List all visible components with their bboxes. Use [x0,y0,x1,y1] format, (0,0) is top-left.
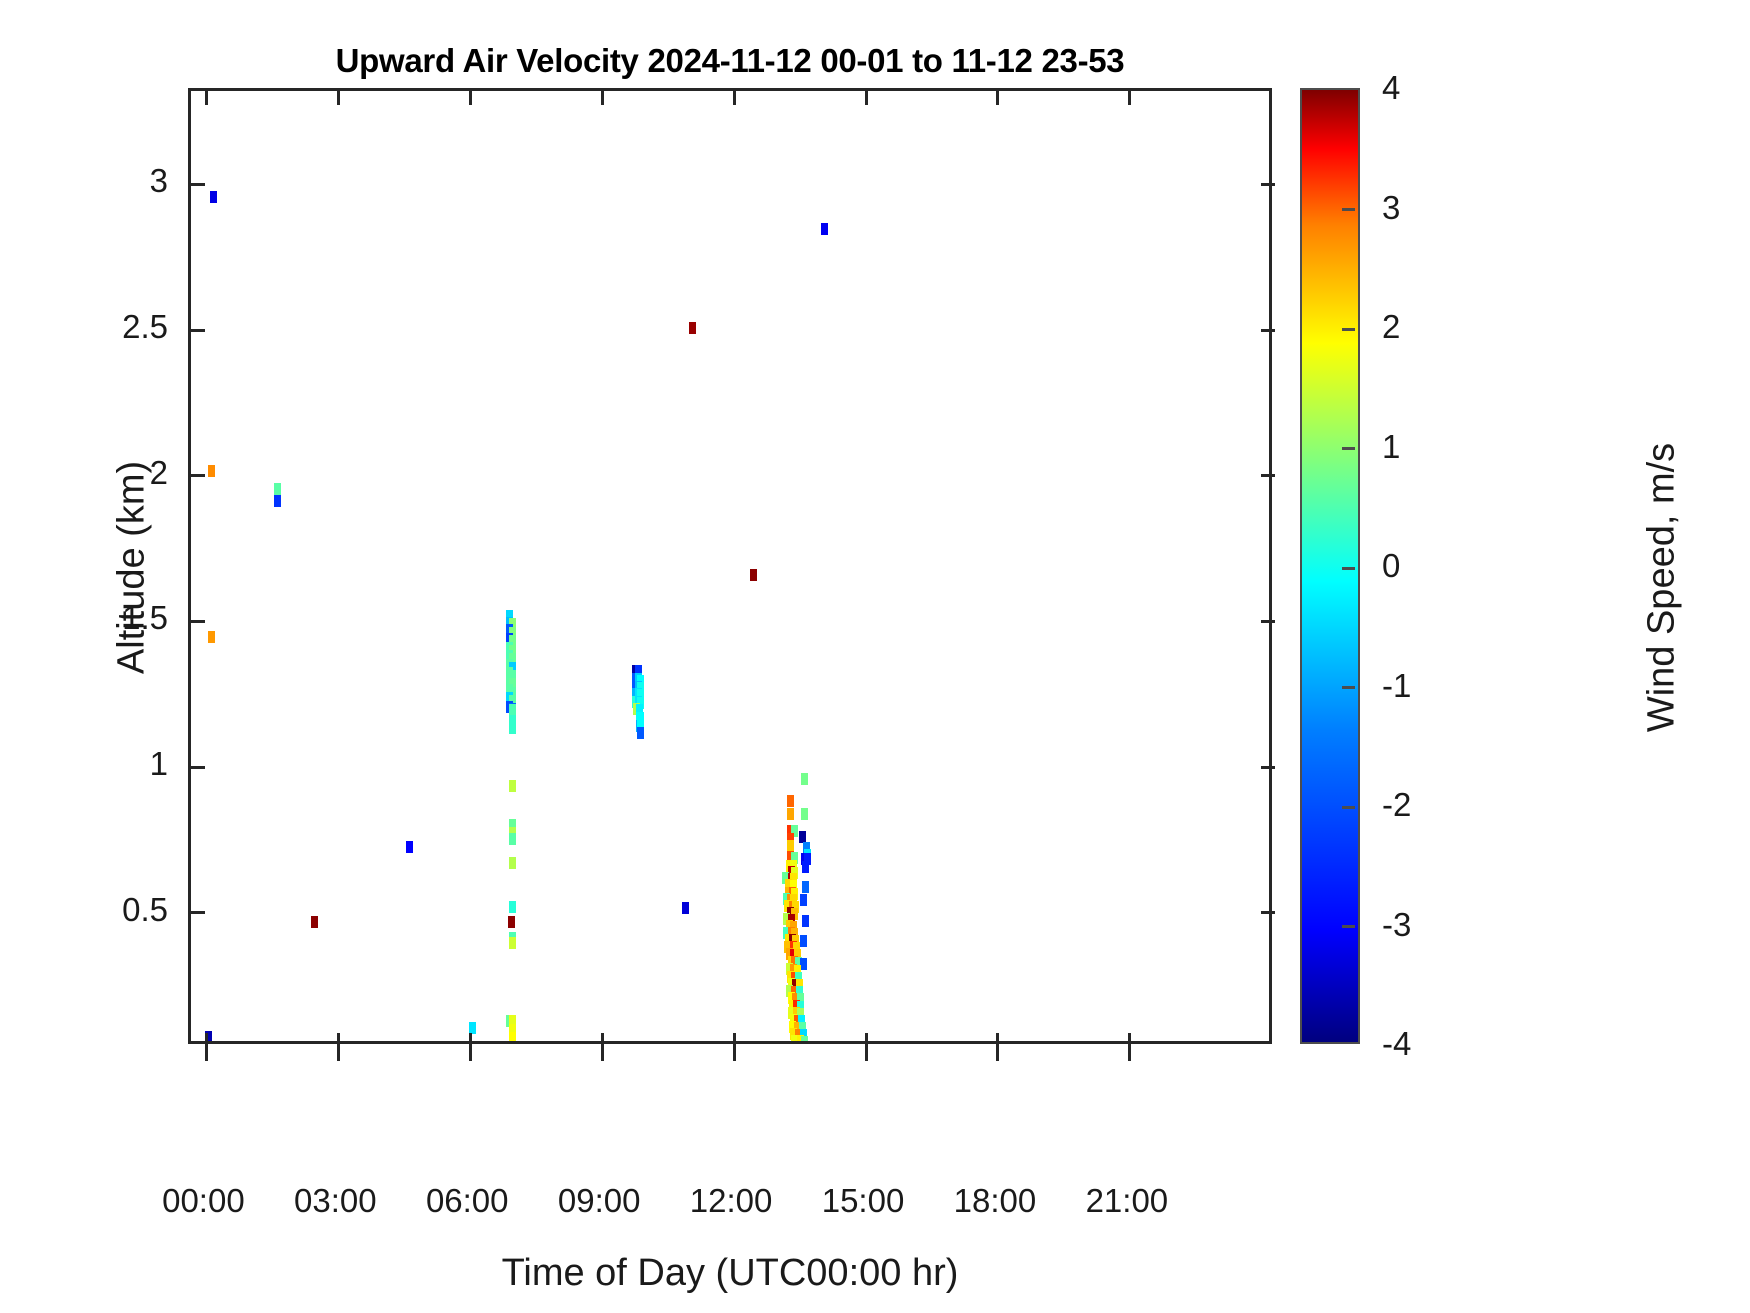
x-tick-label: 03:00 [294,1182,377,1220]
data-point [274,495,281,507]
y-axis-label: Altitude (km) [111,358,154,778]
data-point [750,569,757,581]
x-tick-mark [865,1047,868,1061]
data-point [689,322,696,334]
x-tick-label: 18:00 [954,1182,1037,1220]
data-point [800,935,807,947]
x-tick-mark-inner [469,1033,472,1047]
colorbar-tick-mark [1342,447,1355,450]
data-point [210,191,217,203]
x-tick-mark-top [1128,91,1131,105]
x-tick-mark [469,1047,472,1061]
x-axis-label: Time of Day (UTC00:00 hr) [188,1252,1272,1295]
colorbar-tick-label: -3 [1382,906,1411,944]
data-point [509,901,516,913]
x-tick-mark-inner [601,1033,604,1047]
x-tick-mark-inner [996,1033,999,1047]
x-tick-mark-top [469,91,472,105]
x-tick-label: 21:00 [1086,1182,1169,1220]
data-point [801,773,808,785]
data-point [508,916,515,928]
data-point [509,857,516,869]
y-tick-mark-right [1261,620,1275,623]
data-point [311,916,318,928]
data-point [787,795,794,807]
data-point [208,465,215,477]
chart-title: Upward Air Velocity 2024-11-12 00-01 to … [188,42,1272,80]
data-point [801,808,808,820]
colorbar-tick-label: -1 [1382,667,1411,705]
data-point [637,727,644,739]
x-tick-mark-top [205,91,208,105]
y-tick-mark-right [1261,329,1275,332]
y-tick-mark-right [1261,766,1275,769]
y-tick-mark [191,620,205,623]
data-point [821,223,828,235]
colorbar-tick-label: -4 [1382,1025,1411,1063]
x-tick-mark-top [996,91,999,105]
data-point [802,915,809,927]
colorbar-label: Wind Speed, m/s [1641,378,1684,798]
x-tick-mark-inner [205,1033,208,1047]
data-point [274,483,281,495]
colorbar-tick-mark [1342,328,1355,331]
colorbar-tick-label: 1 [1382,428,1400,466]
x-tick-label: 00:00 [162,1182,245,1220]
y-tick-label: 2.5 [60,308,168,346]
data-point [509,722,516,734]
x-tick-mark [733,1047,736,1061]
colorbar [1300,88,1360,1044]
colorbar-tick-mark [1342,925,1355,928]
x-tick-mark [205,1047,208,1061]
y-tick-mark-right [1261,911,1275,914]
x-tick-label: 12:00 [690,1182,773,1220]
y-tick-mark [191,911,205,914]
colorbar-tick-mark [1342,208,1355,211]
y-tick-mark-right [1261,474,1275,477]
data-point [406,841,413,853]
data-point [682,902,689,914]
x-tick-mark [337,1047,340,1061]
data-point [800,894,807,906]
x-tick-mark-inner [1128,1033,1131,1047]
y-tick-label: 0.5 [60,891,168,929]
data-point [802,861,809,873]
colorbar-tick-label: 4 [1382,69,1400,107]
y-tick-mark [191,474,205,477]
data-point [208,631,215,643]
colorbar-tick-mark [1342,806,1355,809]
x-tick-mark [996,1047,999,1061]
x-tick-mark [1128,1047,1131,1061]
y-tick-mark-right [1261,183,1275,186]
x-tick-mark [601,1047,604,1061]
x-tick-mark-inner [733,1033,736,1047]
x-tick-mark-top [337,91,340,105]
colorbar-tick-mark [1342,686,1355,689]
y-tick-mark [191,329,205,332]
y-tick-label: 3 [60,162,168,200]
data-point [509,1032,516,1041]
y-tick-mark [191,766,205,769]
data-point [800,958,807,970]
colorbar-tick-label: 3 [1382,189,1400,227]
x-tick-label: 09:00 [558,1182,641,1220]
colorbar-tick-mark [1342,567,1355,570]
y-tick-mark [191,183,205,186]
data-point [509,833,516,845]
x-tick-mark-top [865,91,868,105]
x-tick-label: 06:00 [426,1182,509,1220]
colorbar-tick-label: -2 [1382,786,1411,824]
x-tick-mark-top [733,91,736,105]
x-tick-mark-inner [865,1033,868,1047]
data-point [802,881,809,893]
data-point [801,1036,808,1041]
data-point [509,780,516,792]
data-point [509,937,516,949]
x-tick-mark-inner [337,1033,340,1047]
x-tick-label: 15:00 [822,1182,905,1220]
data-point [787,808,794,820]
figure-canvas: Upward Air Velocity 2024-11-12 00-01 to … [0,0,1750,1313]
x-tick-mark-top [601,91,604,105]
data-layer [191,91,1269,1041]
colorbar-tick-label: 0 [1382,547,1400,585]
plot-axes [188,88,1272,1044]
colorbar-tick-label: 2 [1382,308,1400,346]
